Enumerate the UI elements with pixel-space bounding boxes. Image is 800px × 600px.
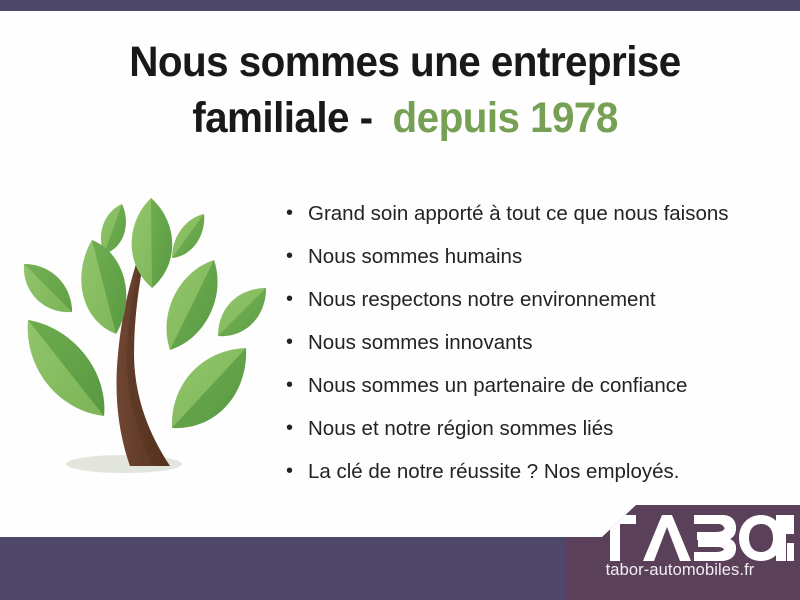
leaf-far-left-small — [24, 264, 72, 312]
list-item-label: Nous et notre région sommes liés — [308, 417, 613, 440]
leaf-right-lower — [172, 348, 246, 428]
value-proposition-list: • Grand soin apporté à tout ce que nous … — [283, 192, 783, 493]
brand-tagline: tabor-automobiles.fr — [566, 561, 800, 580]
bullet-icon: • — [286, 278, 293, 321]
leaf-upper-left-small — [101, 204, 126, 254]
leaf-upper-right-small — [172, 214, 204, 258]
leaf-far-right-small — [218, 288, 266, 336]
list-item-label: La clé de notre réussite ? Nos employés. — [308, 460, 679, 483]
page-title-accent: depuis 1978 — [393, 94, 618, 142]
tabor-wordmark-icon — [594, 515, 794, 561]
tree-illustration — [18, 178, 270, 498]
list-item-label: Nous respectons notre environnement — [308, 288, 656, 311]
brand-logo-panel[interactable]: tabor-automobiles.fr — [566, 505, 800, 600]
list-item: • Grand soin apporté à tout ce que nous … — [283, 192, 783, 235]
list-item-label: Nous sommes humains — [308, 245, 522, 268]
page-title: Nous sommes une entreprise familiale - d… — [81, 34, 730, 146]
bullet-icon: • — [286, 407, 293, 450]
list-item-label: Nous sommes innovants — [308, 331, 532, 354]
list-item: • La clé de notre réussite ? Nos employé… — [283, 450, 783, 493]
list-item: • Nous et notre région sommes liés — [283, 407, 783, 450]
bullet-icon: • — [286, 235, 293, 278]
page-title-line-2: familiale - — [192, 94, 383, 142]
list-item: • Nous sommes innovants — [283, 321, 783, 364]
top-brand-band — [0, 0, 800, 11]
list-item-label: Grand soin apporté à tout ce que nous fa… — [308, 202, 729, 225]
slide-canvas: Nous sommes une entreprise familiale - d… — [0, 0, 800, 600]
page-title-line-1: Nous sommes une entreprise — [129, 38, 680, 86]
bullet-icon: • — [286, 321, 293, 364]
list-item: • Nous sommes humains — [283, 235, 783, 278]
list-item: • Nous respectons notre environnement — [283, 278, 783, 321]
bullet-icon: • — [286, 450, 293, 493]
bullet-icon: • — [286, 192, 293, 235]
leaf-left-upper — [81, 240, 126, 334]
bullet-icon: • — [286, 364, 293, 407]
leaf-left-lower — [28, 320, 105, 416]
list-item-label: Nous sommes un partenaire de confiance — [308, 374, 687, 397]
list-item: • Nous sommes un partenaire de confiance — [283, 364, 783, 407]
leaf-right-upper — [167, 260, 218, 350]
